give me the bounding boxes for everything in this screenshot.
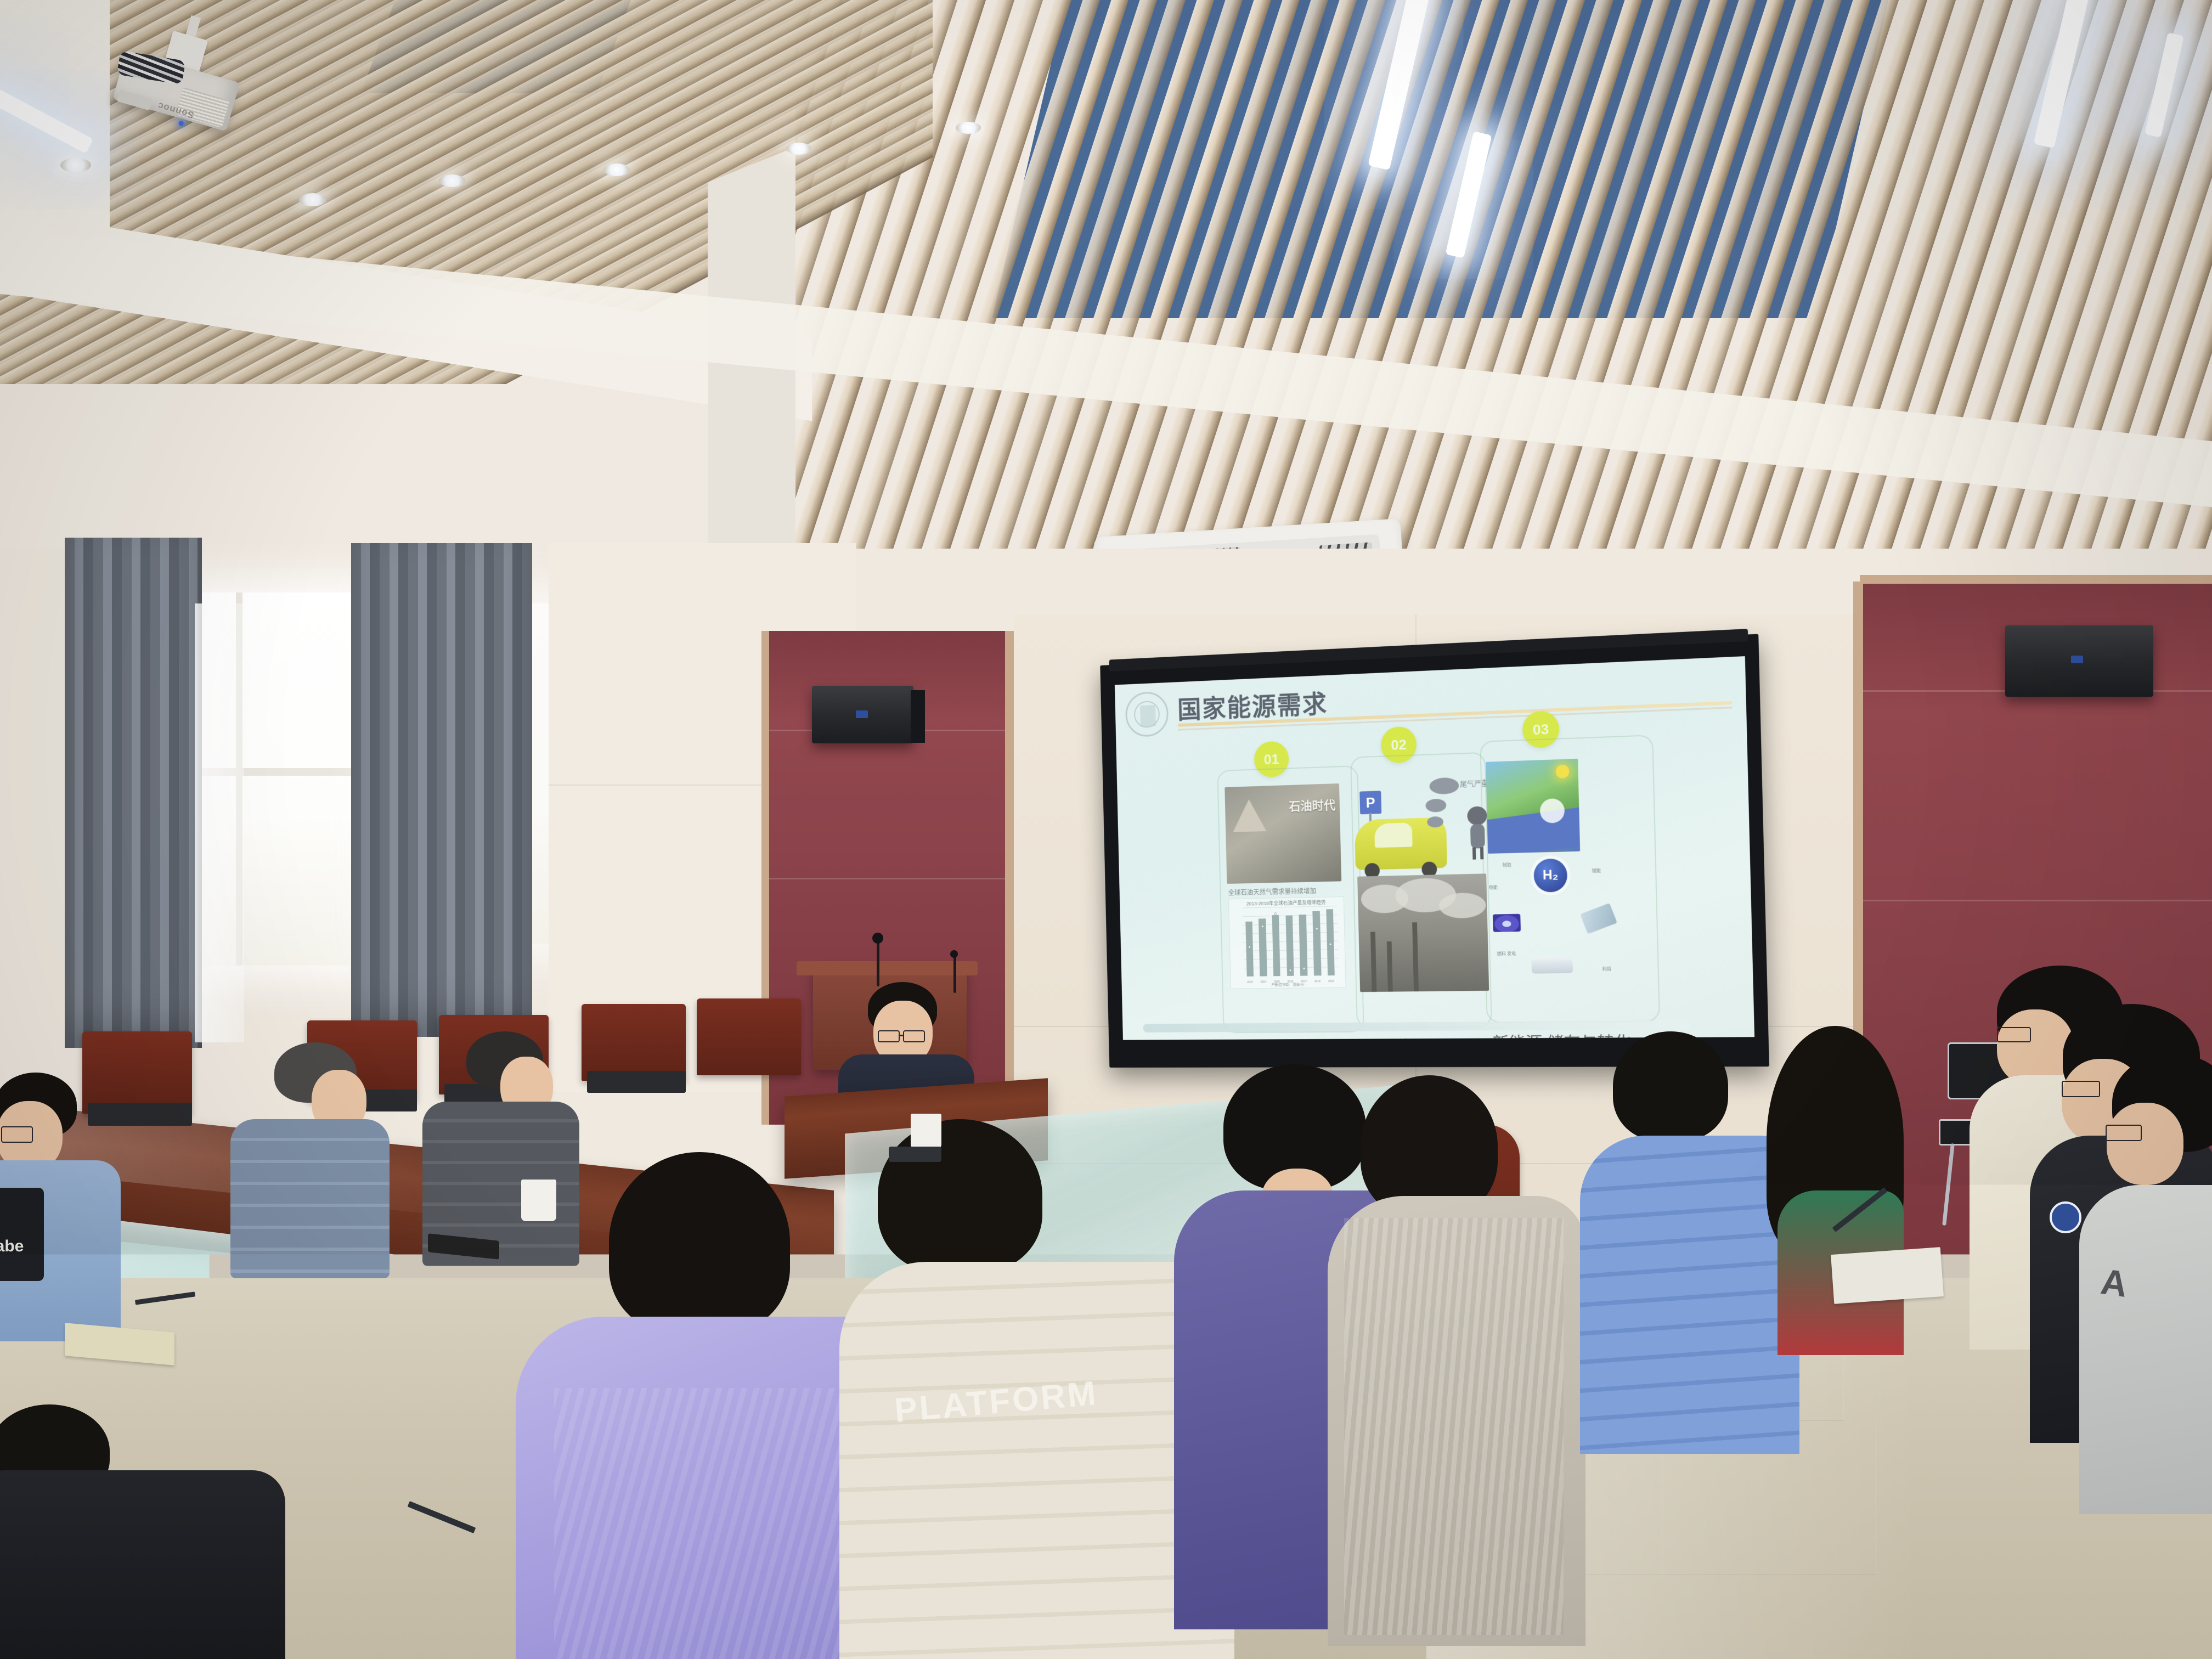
projector-status-led (178, 120, 184, 126)
downlight (786, 143, 811, 155)
person-illustration (1465, 806, 1489, 860)
legend-item-line: 增速(%) (1293, 983, 1305, 986)
audience-center-grey-fur (1328, 1075, 1602, 1659)
black-coat (0, 1470, 285, 1659)
oil-production-chart: 2013-2019年全球石油产量及增降趋势 201320142015201620… (1228, 896, 1346, 989)
photo-scene: Sonnoc (0, 0, 2212, 1659)
cycle-label: 燃料 发电 (1497, 951, 1516, 957)
chart-bar (1312, 911, 1321, 975)
wall-speaker-right (2005, 625, 2153, 697)
microphone-head (950, 950, 958, 958)
pollution-photo (1357, 873, 1489, 992)
paper-cup (911, 1114, 941, 1149)
ceiling-slats-right (795, 0, 2212, 620)
grey-hoodie (2079, 1185, 2212, 1514)
downlight (956, 122, 981, 134)
hair (878, 1119, 1042, 1273)
audience-right-student-3: A (2090, 1053, 2212, 1503)
chart-line-point (1261, 925, 1264, 928)
curtain-left (65, 538, 202, 1048)
microphone-head (872, 933, 883, 944)
face (2107, 1103, 2183, 1185)
cycle-label: 储能 (1592, 867, 1601, 874)
legend-item-bars: 产量(百万吨) (1272, 984, 1290, 987)
fuel-cell-icon (1580, 903, 1617, 934)
hair-bun (1613, 1031, 1728, 1141)
university-crest-badge (2050, 1201, 2081, 1233)
chart-line-point (1248, 946, 1251, 949)
eyeglasses (1997, 1027, 2031, 1042)
sheer-curtain (195, 603, 244, 1042)
oil-era-image: 石油时代 (1224, 783, 1341, 884)
audience-front-left-black-coat (0, 1404, 296, 1659)
chart-bar (1326, 909, 1335, 975)
slide-surface: 国家能源需求 01 02 03 石油时代 全球石油天然气需求量持续增加 (1115, 656, 1754, 1040)
microphone-stem (877, 939, 879, 986)
projector-lens (116, 89, 153, 110)
eyeglasses (2106, 1125, 2142, 1141)
audience-center-long-hair (1756, 1026, 1937, 1366)
paper-cup (521, 1180, 556, 1221)
green-energy-landscape (1486, 759, 1580, 854)
audience-left-adult-1 (219, 1042, 395, 1328)
cycle-label: 利用 (1602, 966, 1611, 972)
chart-bar (1272, 915, 1281, 976)
oil-era-caption: 石油时代 (1289, 795, 1336, 814)
cycle-label: 制取 (1503, 862, 1511, 868)
chart-line-point (1315, 927, 1318, 930)
electrolyzer-icon (1493, 914, 1521, 932)
oil-bullet-text: 全球石油天然气需求量持续增加 (1228, 886, 1317, 897)
university-seal-icon (1125, 691, 1169, 738)
curtain-center (351, 543, 532, 1037)
cycle-label: 电能 (1489, 884, 1498, 890)
chart-legend: 产量(百万吨) 增速(%) (1231, 981, 1346, 988)
chart-line-point (1329, 943, 1332, 945)
hydrogen-molecule-icon: H₂ (1533, 859, 1567, 893)
fuel-cell-vehicle-icon (1531, 956, 1573, 973)
shirt-text: Babe (0, 1237, 24, 1256)
presenter-glasses (878, 1030, 900, 1042)
chart-line-point (1302, 967, 1305, 970)
downlight (299, 193, 326, 206)
remote-control (889, 1147, 941, 1162)
chart-bar (1285, 915, 1294, 976)
chart-plot-area: 2013201420152016201720182019 (1243, 906, 1339, 977)
downlight (603, 163, 630, 176)
notebook-on-lap (1831, 1247, 1944, 1304)
puffer-jacket (230, 1119, 390, 1278)
eyeglasses (1, 1126, 33, 1143)
downlight (439, 174, 465, 187)
presenter-glasses (903, 1030, 925, 1042)
chart-bar (1245, 922, 1254, 977)
projection-screen: 国家能源需求 01 02 03 石油时代 全球石油天然气需求量持续增加 (1100, 634, 1769, 1068)
downlight (60, 158, 91, 172)
wall-speaker-left (812, 686, 913, 743)
parking-sign-icon: P (1359, 791, 1381, 814)
